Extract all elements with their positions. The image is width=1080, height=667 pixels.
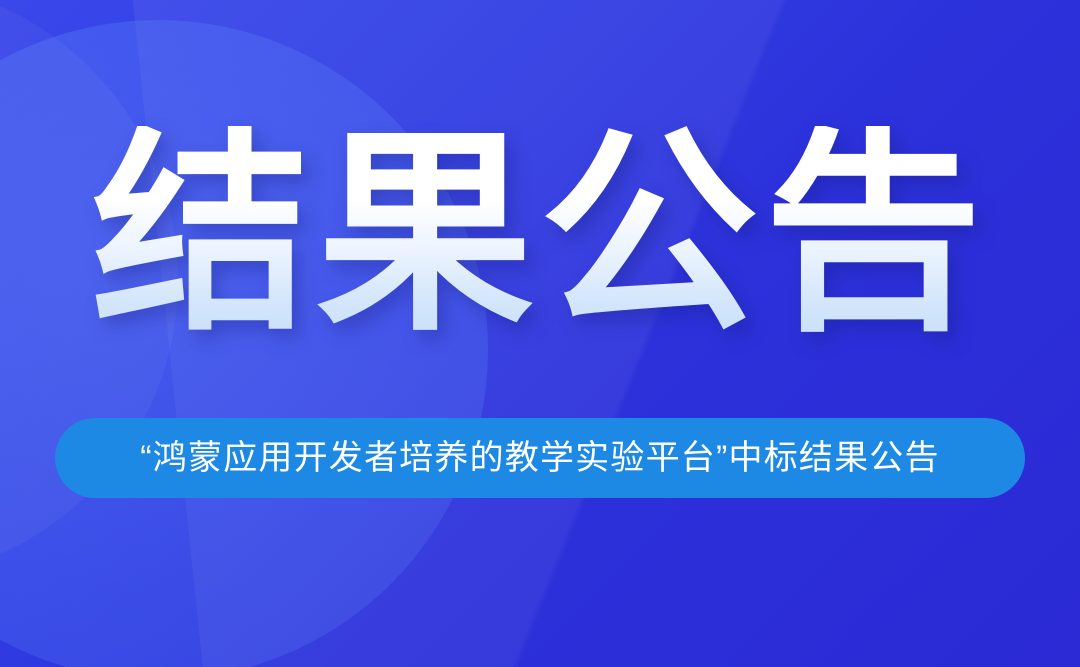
subtitle-pill: “鸿蒙应用开发者培养的教学实验平台”中标结果公告 bbox=[55, 418, 1025, 498]
page-title: 结果公告 bbox=[92, 126, 988, 344]
diagonal-light-wedge-icon bbox=[96, 0, 1080, 667]
subtitle-text: “鸿蒙应用开发者培养的教学实验平台”中标结果公告 bbox=[140, 441, 939, 475]
headline-container: 结果公告 bbox=[0, 126, 1080, 344]
large-light-blue-circle-icon bbox=[0, 20, 488, 667]
announcement-poster: 结果公告 “鸿蒙应用开发者培养的教学实验平台”中标结果公告 bbox=[0, 0, 1080, 667]
